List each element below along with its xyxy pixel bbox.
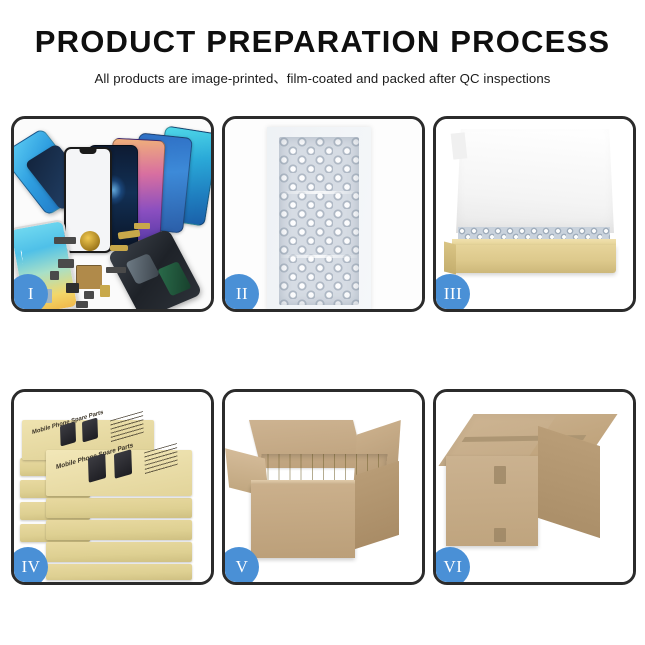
process-step-panel-5[interactable]: V — [222, 389, 425, 585]
mailer-box-base-icon — [452, 245, 616, 273]
mailer-box-lid-tab — [451, 132, 468, 159]
stacked-box-f3 — [46, 542, 192, 562]
step-badge-2: II — [222, 274, 259, 312]
speaker-coil-part-icon — [80, 231, 100, 251]
process-step-panel-3[interactable]: III — [433, 116, 636, 312]
step-badge-3: III — [433, 274, 470, 312]
box-screen-graphic-front-1 — [88, 453, 106, 483]
step-badge-1: I — [11, 274, 48, 312]
process-step-panel-1[interactable]: I — [11, 116, 214, 312]
carton-right-panel — [355, 461, 399, 549]
box-screen-graphic-rear-2 — [82, 417, 98, 442]
mailer-box-lid-icon — [456, 129, 614, 233]
stacked-box-f2 — [46, 520, 192, 540]
sealed-carton-front-panel — [446, 456, 538, 546]
small-part-icon-4 — [66, 283, 79, 293]
bubble-wrap-sleeve-icon — [267, 127, 371, 309]
bubble-wrap-texture — [279, 137, 359, 305]
small-part-icon-1 — [54, 237, 76, 244]
page-header: PRODUCT PREPARATION PROCESS All products… — [0, 0, 645, 87]
bubble-wrap-seam-2 — [281, 255, 357, 258]
bubble-wrap-seam-1 — [281, 191, 357, 194]
box-screen-graphic-front-2 — [114, 449, 132, 479]
carton-flap-nick-bottom — [494, 528, 506, 542]
small-part-icon-5 — [84, 291, 94, 299]
page-title: PRODUCT PREPARATION PROCESS — [0, 26, 645, 59]
stacked-box-f4 — [46, 564, 192, 580]
process-step-panel-6[interactable]: VI — [433, 389, 636, 585]
small-part-icon-10 — [134, 223, 150, 229]
sealed-carton-right-panel — [538, 426, 600, 538]
process-step-panel-2[interactable]: II — [222, 116, 425, 312]
phone-screen-fan — [60, 127, 210, 235]
small-part-icon-2 — [58, 259, 74, 268]
step-badge-4: IV — [11, 547, 48, 585]
page-subtitle: All products are image-printed、film-coat… — [0, 68, 645, 87]
box-screen-graphic-rear-1 — [60, 421, 76, 446]
carton-flap-nick-top — [494, 466, 506, 484]
chip-board-part-icon — [76, 265, 102, 289]
step-badge-5: V — [222, 547, 259, 585]
stacked-box-f1 — [46, 498, 192, 518]
small-part-icon-7 — [106, 267, 126, 273]
retail-box-stack: Mobile Phone Spare Parts Mobile Phone Sp… — [20, 406, 210, 576]
small-part-icon-9 — [76, 301, 88, 308]
carton-front-panel — [251, 484, 355, 558]
small-part-icon-6 — [100, 285, 110, 297]
small-part-icon-3 — [50, 271, 59, 280]
process-steps-grid: I II III — [11, 116, 636, 585]
connector-part-icon — [110, 245, 128, 251]
mailer-box-side-panel — [444, 242, 456, 275]
step-badge-6: VI — [433, 547, 470, 585]
process-step-panel-4[interactable]: Mobile Phone Spare Parts Mobile Phone Sp… — [11, 389, 214, 585]
